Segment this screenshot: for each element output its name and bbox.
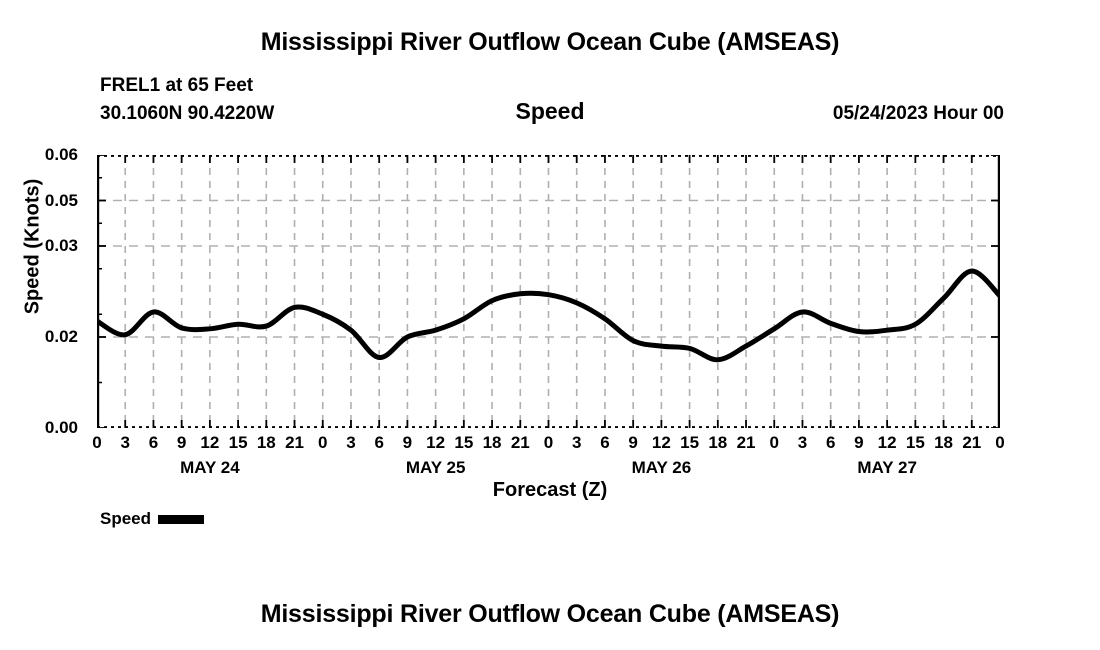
x-tick-label: 9 [854,433,863,453]
legend-line-swatch [158,515,204,524]
x-tick-label: 21 [511,433,530,453]
x-axis-title: Forecast (Z) [0,479,1100,502]
x-tick-label: 0 [92,433,101,453]
x-tick-label: 0 [995,433,1004,453]
x-tick-label: 0 [318,433,327,453]
x-tick-label: 0 [544,433,553,453]
x-tick-label: 6 [826,433,835,453]
x-tick-label: 9 [403,433,412,453]
legend-label: Speed [100,509,151,529]
y-tick-label: 0.02 [45,327,78,347]
day-label: MAY 24 [180,458,240,478]
plot-area [97,155,1000,428]
x-tick-label: 6 [149,433,158,453]
x-tick-label: 12 [878,433,897,453]
x-tick-label: 3 [346,433,355,453]
x-tick-label: 18 [708,433,727,453]
model-run-stamp: 05/24/2023 Hour 00 [833,103,1004,125]
x-tick-label: 3 [798,433,807,453]
speed-line-chart [97,155,1000,428]
x-tick-label: 15 [680,433,699,453]
y-tick-label: 0.05 [45,191,78,211]
y-axis-tick-labels: 0.060.050.030.020.00 [0,0,90,650]
day-label: MAY 25 [406,458,466,478]
page-title-bottom: Mississippi River Outflow Ocean Cube (AM… [0,600,1100,629]
x-tick-label: 21 [737,433,756,453]
x-tick-label: 21 [962,433,981,453]
x-tick-label: 6 [374,433,383,453]
y-tick-label: 0.06 [45,145,78,165]
x-tick-label: 3 [120,433,129,453]
x-tick-label: 9 [177,433,186,453]
x-tick-label: 15 [454,433,473,453]
x-tick-label: 18 [934,433,953,453]
x-tick-label: 0 [770,433,779,453]
x-tick-label: 18 [483,433,502,453]
x-tick-label: 6 [600,433,609,453]
chart-canvas: Mississippi River Outflow Ocean Cube (AM… [0,0,1100,650]
x-tick-label: 12 [652,433,671,453]
x-tick-label: 12 [426,433,445,453]
x-tick-label: 9 [628,433,637,453]
x-tick-label: 15 [229,433,248,453]
legend: Speed [100,508,204,530]
station-name-depth: FREL1 at 65 Feet [100,75,253,97]
day-label: MAY 26 [632,458,692,478]
x-axis-tick-labels: 0369121518210369121518210369121518210369… [0,433,1100,459]
y-tick-label: 0.03 [45,236,78,256]
x-tick-label: 18 [257,433,276,453]
x-tick-label: 21 [285,433,304,453]
day-label: MAY 27 [857,458,917,478]
page-title-top: Mississippi River Outflow Ocean Cube (AM… [0,28,1100,57]
x-tick-label: 3 [572,433,581,453]
x-tick-label: 15 [906,433,925,453]
x-tick-label: 12 [200,433,219,453]
